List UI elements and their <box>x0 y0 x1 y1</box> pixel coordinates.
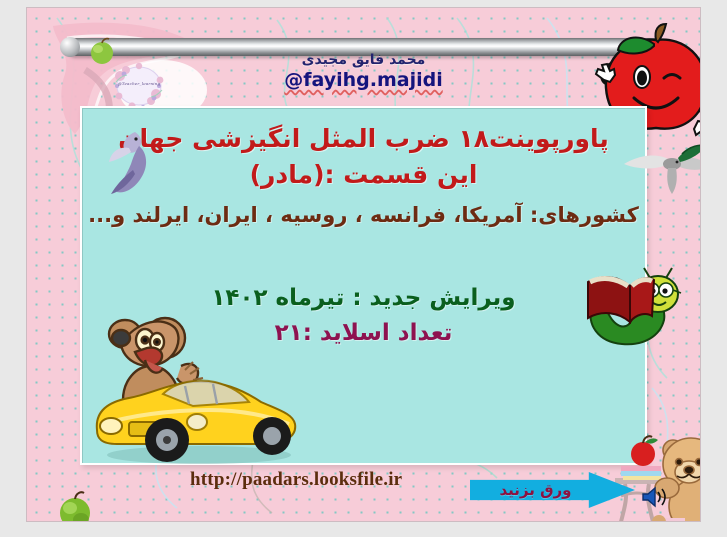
title-line-1: پاورپوینت۱۸ ضرب المثل انگیزشی جهان <box>82 124 645 153</box>
next-slide-arrow-button[interactable]: ورق بزنید <box>470 472 635 508</box>
chrome-rod-decoration <box>67 38 667 56</box>
countries-subtitle: کشورهای: آمریکا، فرانسه ، روسیه ، ایران،… <box>82 203 645 227</box>
green-apple-icon <box>53 488 97 521</box>
floral-sticker: @Teacher_learning <box>110 60 168 112</box>
site-url-text[interactable]: http://paadars.looksfile.ir <box>190 469 402 491</box>
content-panel: پاورپوینت۱۸ ضرب المثل انگیزشی جهان این ق… <box>80 106 647 465</box>
next-slide-arrow-label: ورق بزنید <box>500 481 572 499</box>
edition-line: ویرایش جدید : تیرماه ۱۴۰۲ <box>82 285 645 311</box>
title-line-2: این قسمت :(مادر) <box>82 160 645 189</box>
rod-end-cap <box>60 37 80 57</box>
speaker-icon[interactable] <box>641 486 667 508</box>
sticker-label: @Teacher_learning <box>110 81 168 86</box>
screenshot-root: @Teacher_learning محمد فایق مجیدی @fayih… <box>0 0 727 537</box>
slide-count-line: تعداد اسلاید :۲۱ <box>82 320 645 346</box>
presentation-slide: @Teacher_learning محمد فایق مجیدی @fayih… <box>27 8 700 521</box>
